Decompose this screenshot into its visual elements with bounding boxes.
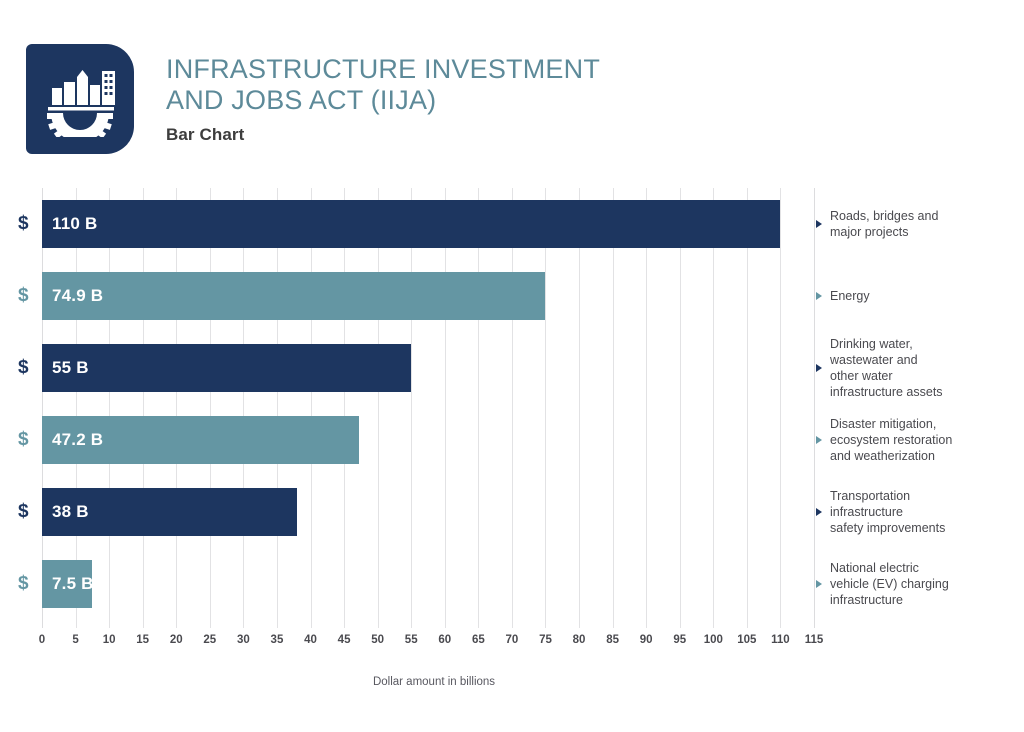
category-label-group: Disaster mitigation, ecosystem restorati… [816, 416, 1016, 464]
category-label: Drinking water, wastewater and other wat… [830, 336, 943, 400]
bar-value-label: 110 B [52, 214, 97, 234]
category-label: Roads, bridges and major projects [830, 208, 938, 240]
category-label: National electric vehicle (EV) charging … [830, 560, 949, 608]
currency-symbol: $ [18, 573, 29, 595]
triangle-bullet-icon [816, 436, 822, 444]
page-title: INFRASTRUCTURE INVESTMENT AND JOBS ACT (… [166, 54, 600, 116]
bar-value-label: 74.9 B [52, 286, 103, 306]
bar-value-label: 7.5 B [52, 574, 94, 594]
x-axis-tick: 10 [103, 634, 116, 646]
x-axis-tick: 50 [371, 634, 384, 646]
x-axis-tick: 35 [271, 634, 284, 646]
bar-rows: $110 BRoads, bridges and major projects$… [0, 188, 1024, 628]
x-axis-tick: 105 [737, 634, 756, 646]
x-axis-tick: 75 [539, 634, 552, 646]
bar-value-label: 55 B [52, 358, 89, 378]
bar-row: $74.9 BEnergy [0, 260, 1024, 332]
bar[interactable]: 38 B [42, 488, 297, 536]
x-axis-tick: 0 [39, 634, 45, 646]
bar-row: $7.5 BNational electric vehicle (EV) cha… [0, 548, 1024, 620]
bar-row: $110 BRoads, bridges and major projects [0, 188, 1024, 260]
currency-symbol: $ [18, 501, 29, 523]
category-label-group: Energy [816, 288, 1016, 304]
category-label-group: Drinking water, wastewater and other wat… [816, 336, 1016, 400]
triangle-bullet-icon [816, 220, 822, 228]
bar-value-label: 47.2 B [52, 430, 103, 450]
x-axis-tick: 115 [805, 634, 824, 646]
x-axis-tick: 40 [304, 634, 317, 646]
bar[interactable]: 110 B [42, 200, 780, 248]
x-axis-tick: 70 [506, 634, 519, 646]
x-axis-tick: 20 [170, 634, 183, 646]
x-axis-tick: 85 [606, 634, 619, 646]
title-block: INFRASTRUCTURE INVESTMENT AND JOBS ACT (… [166, 44, 600, 145]
category-label: Transportation infrastructure safety imp… [830, 488, 945, 536]
x-axis-tick: 45 [338, 634, 351, 646]
triangle-bullet-icon [816, 508, 822, 516]
city-gear-icon [26, 44, 134, 154]
bar[interactable]: 47.2 B [42, 416, 359, 464]
triangle-bullet-icon [816, 292, 822, 300]
category-label-group: National electric vehicle (EV) charging … [816, 560, 1016, 608]
x-axis-tick: 90 [640, 634, 653, 646]
x-axis-tick: 95 [673, 634, 686, 646]
currency-symbol: $ [18, 429, 29, 451]
x-axis-tick: 100 [704, 634, 723, 646]
x-axis-tick: 60 [438, 634, 451, 646]
bar[interactable]: 55 B [42, 344, 411, 392]
x-axis-tick: 5 [72, 634, 78, 646]
bar[interactable]: 74.9 B [42, 272, 545, 320]
bar-row: $55 BDrinking water, wastewater and othe… [0, 332, 1024, 404]
bar-chart: $110 BRoads, bridges and major projects$… [0, 188, 1024, 628]
x-axis-tick: 55 [405, 634, 418, 646]
category-label: Disaster mitigation, ecosystem restorati… [830, 416, 952, 464]
bar[interactable]: 7.5 B [42, 560, 92, 608]
currency-symbol: $ [18, 357, 29, 379]
x-axis-tick: 80 [573, 634, 586, 646]
x-axis: 0510152025303540455055606570758085909510… [0, 634, 1024, 654]
x-axis-tick: 30 [237, 634, 250, 646]
x-axis-tick: 25 [203, 634, 216, 646]
bar-row: $47.2 BDisaster mitigation, ecosystem re… [0, 404, 1024, 476]
currency-symbol: $ [18, 213, 29, 235]
category-label: Energy [830, 288, 870, 304]
category-label-group: Transportation infrastructure safety imp… [816, 488, 1016, 536]
category-label-group: Roads, bridges and major projects [816, 208, 1016, 240]
triangle-bullet-icon [816, 364, 822, 372]
bar-value-label: 38 B [52, 502, 89, 522]
chart-subtitle: Bar Chart [166, 125, 600, 145]
x-axis-tick: 65 [472, 634, 485, 646]
bar-row: $38 BTransportation infrastructure safet… [0, 476, 1024, 548]
chart-header: INFRASTRUCTURE INVESTMENT AND JOBS ACT (… [26, 44, 600, 154]
currency-symbol: $ [18, 285, 29, 307]
x-axis-label: Dollar amount in billions [0, 676, 868, 688]
x-axis-tick: 15 [136, 634, 149, 646]
triangle-bullet-icon [816, 580, 822, 588]
x-axis-tick: 110 [771, 634, 790, 646]
